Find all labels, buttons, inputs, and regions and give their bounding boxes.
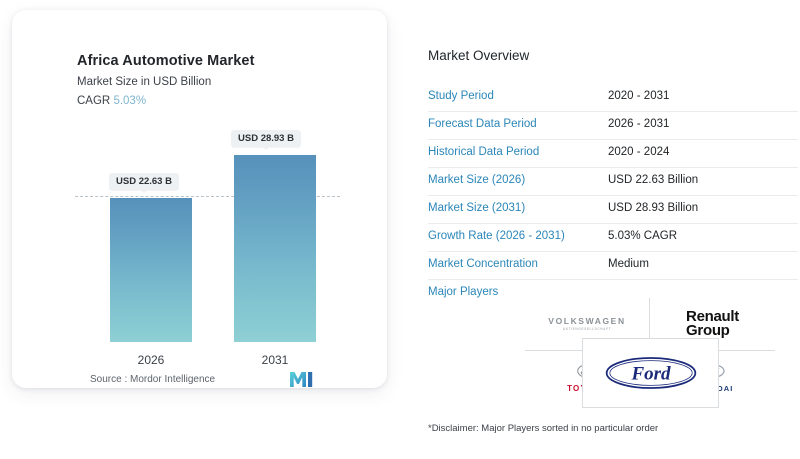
row-value: USD 28.93 Billion xyxy=(608,202,698,214)
x-axis-label-2031: 2031 xyxy=(234,353,316,367)
row-value: 2020 - 2031 xyxy=(608,90,669,102)
chart-subtitle: Market Size in USD Billion xyxy=(77,76,211,88)
bar-label-2031: USD 28.93 B xyxy=(231,130,301,147)
x-axis-label-2026: 2026 xyxy=(110,353,192,367)
chart-title: Africa Automotive Market xyxy=(77,53,255,69)
renault-line2: Group xyxy=(686,324,739,338)
table-row[interactable]: Market Concentration Medium xyxy=(428,252,798,280)
player-logo-ford[interactable]: Ford xyxy=(582,338,719,408)
row-label[interactable]: Historical Data Period xyxy=(428,146,539,158)
page-root: Africa Automotive Market Market Size in … xyxy=(0,0,800,459)
row-label[interactable]: Market Size (2026) xyxy=(428,174,525,186)
table-row[interactable]: Market Size (2026) USD 22.63 Billion xyxy=(428,168,798,196)
volkswagen-subtext: AKTIENGESELLSCHAFT xyxy=(548,328,625,332)
table-row[interactable]: Market Size (2031) USD 28.93 Billion xyxy=(428,196,798,224)
row-value: USD 22.63 Billion xyxy=(608,174,698,186)
table-row[interactable]: Forecast Data Period 2026 - 2031 xyxy=(428,112,798,140)
chart-card: Africa Automotive Market Market Size in … xyxy=(12,10,387,388)
row-label[interactable]: Forecast Data Period xyxy=(428,118,537,130)
bar-2031[interactable] xyxy=(234,155,316,342)
major-players-label[interactable]: Major Players xyxy=(428,286,498,298)
ford-emblem-icon: Ford xyxy=(603,354,699,392)
overview-heading: Market Overview xyxy=(428,48,529,63)
bar-label-2026: USD 22.63 B xyxy=(109,173,179,190)
row-label[interactable]: Growth Rate (2026 - 2031) xyxy=(428,230,565,242)
row-value: Medium xyxy=(608,258,649,270)
cagr-row: CAGR 5.03% xyxy=(77,95,146,107)
table-row[interactable]: Historical Data Period 2020 - 2024 xyxy=(428,140,798,168)
cagr-label: CAGR xyxy=(77,95,110,107)
row-value: 2026 - 2031 xyxy=(608,118,669,130)
table-row[interactable]: Growth Rate (2026 - 2031) 5.03% CAGR xyxy=(428,224,798,252)
row-label[interactable]: Market Concentration xyxy=(428,258,538,270)
source-text: Source : Mordor Intelligence xyxy=(90,374,215,385)
overview-table: Study Period 2020 - 2031 Forecast Data P… xyxy=(428,84,798,307)
market-overview-panel: Market Overview Study Period 2020 - 2031… xyxy=(415,0,800,459)
row-value: 5.03% CAGR xyxy=(608,230,677,242)
bar-chart-plot: USD 22.63 B USD 28.93 B 2026 2031 xyxy=(12,120,387,370)
bar-2026[interactable] xyxy=(110,198,192,342)
mordor-intelligence-logo-icon xyxy=(289,370,315,388)
row-value: 2020 - 2024 xyxy=(608,146,669,158)
row-label[interactable]: Market Size (2031) xyxy=(428,202,525,214)
row-label[interactable]: Study Period xyxy=(428,90,494,102)
cagr-value: 5.03% xyxy=(113,95,146,107)
table-row[interactable]: Study Period 2020 - 2031 xyxy=(428,84,798,112)
major-players-logo-grid: VOLKSWAGEN AKTIENGESELLSCHAFT Renault Gr… xyxy=(525,298,775,406)
disclaimer-text: *Disclaimer: Major Players sorted in no … xyxy=(428,423,658,434)
volkswagen-wordmark: VOLKSWAGEN xyxy=(548,316,625,326)
ford-wordmark: Ford xyxy=(630,363,671,384)
